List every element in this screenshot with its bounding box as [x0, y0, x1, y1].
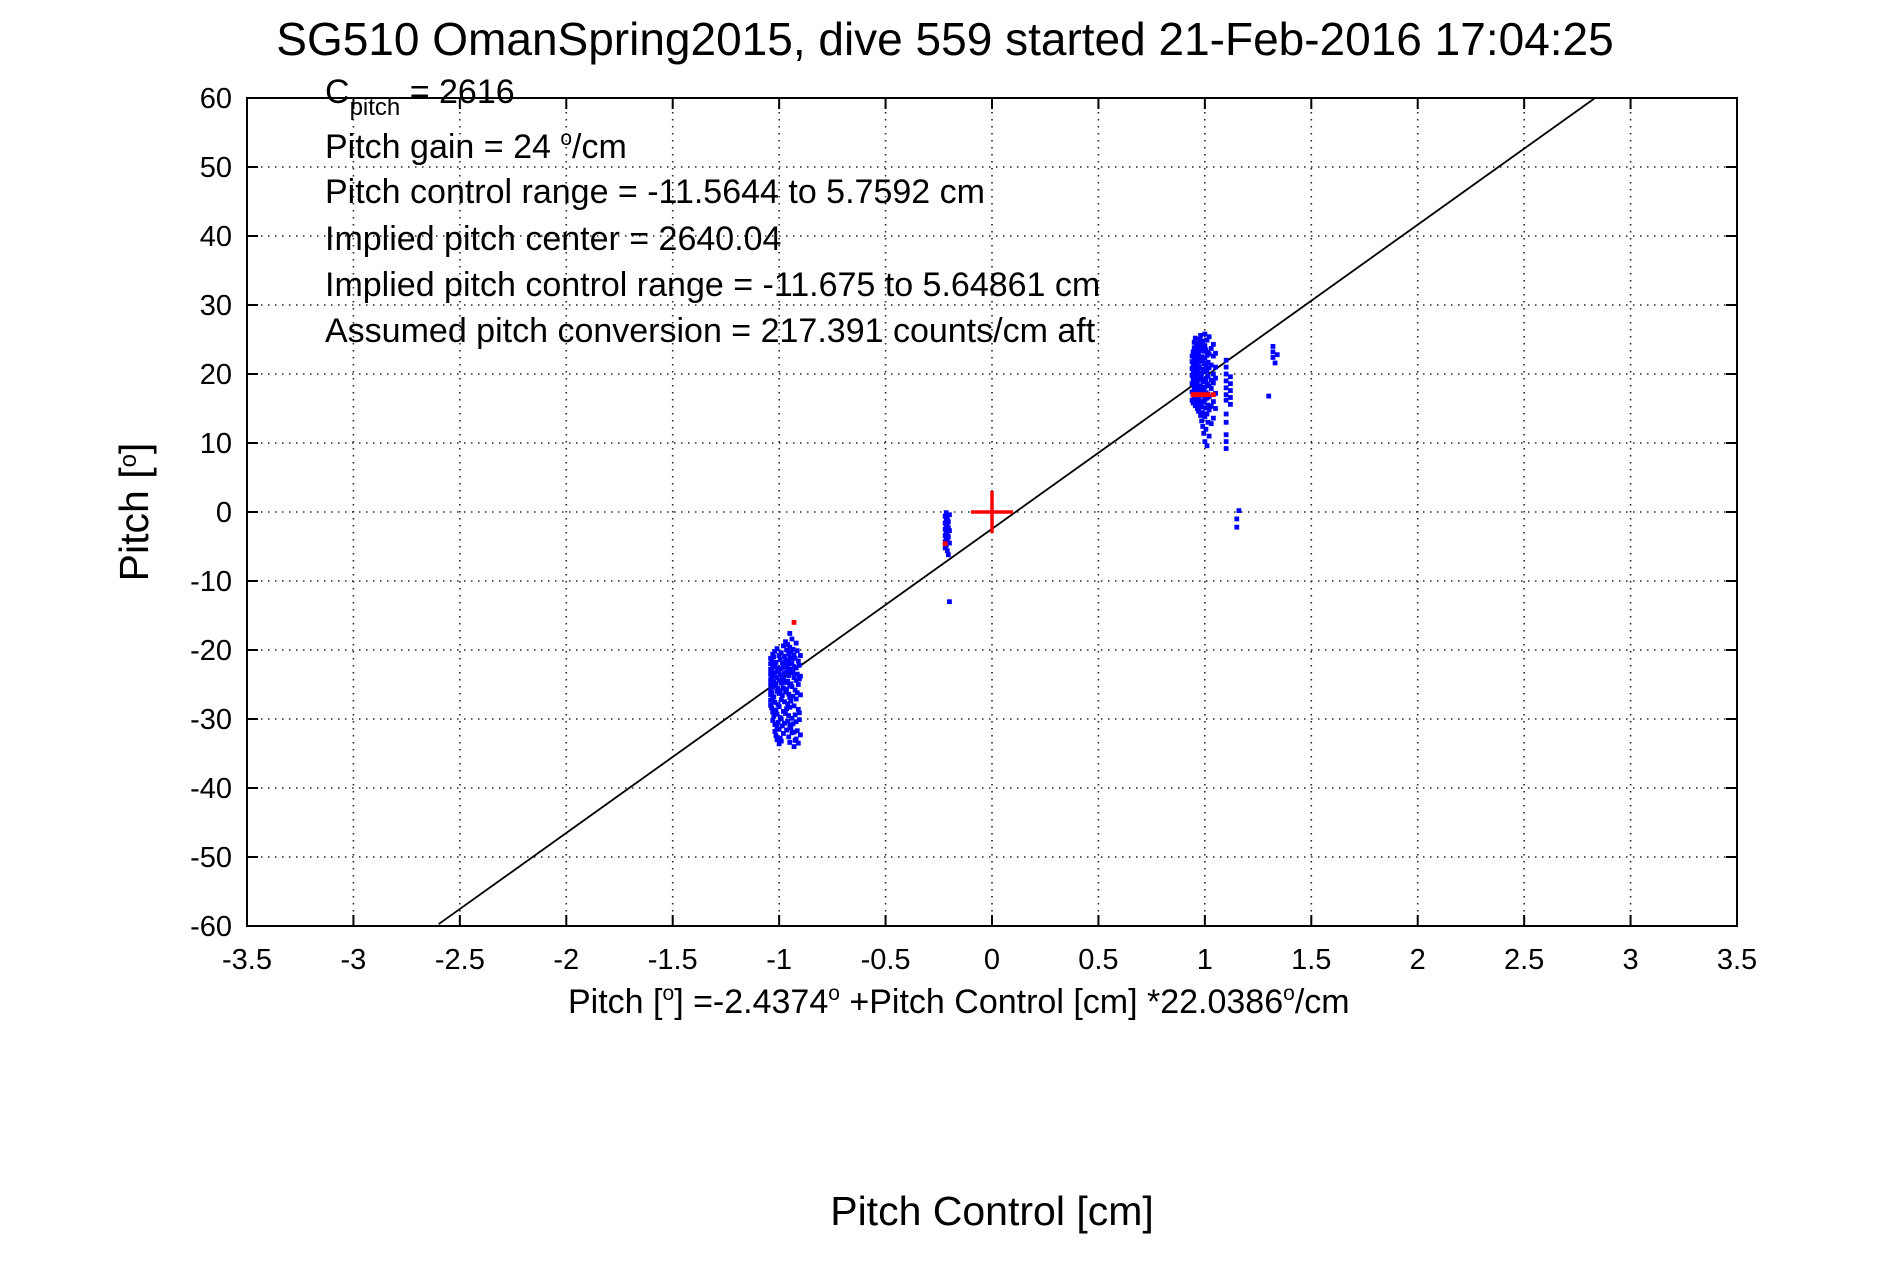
data-point [794, 737, 799, 742]
data-point [798, 692, 803, 697]
data-point [1224, 365, 1229, 370]
data-point [1224, 439, 1229, 444]
x-tick-label: -3 [341, 944, 367, 976]
y-tick-label: 10 [200, 428, 232, 460]
data-point [793, 712, 798, 717]
data-point [1213, 376, 1218, 381]
data-point [798, 674, 803, 679]
y-tick-label: 0 [216, 497, 232, 529]
data-point [947, 528, 952, 533]
data-point [1209, 363, 1214, 368]
data-point [769, 659, 774, 664]
data-point [947, 541, 952, 546]
data-point [1211, 392, 1216, 397]
matlab-figure-window: SG510 OmanSpring2015, dive 559 started 2… [0, 0, 1891, 1262]
data-point [774, 733, 779, 738]
x-tick-label: 2 [1410, 944, 1426, 976]
x-tick-label: -2.5 [435, 944, 485, 976]
data-point [1193, 336, 1198, 341]
data-point [1228, 395, 1233, 400]
data-point [1196, 409, 1201, 414]
data-point [796, 682, 801, 687]
data-point [1224, 358, 1229, 363]
data-point [1273, 361, 1278, 366]
x-tick-label: 0 [984, 944, 1000, 976]
equation-units: /cm [1295, 983, 1350, 1021]
data-point [1202, 332, 1207, 337]
y-tick-label: 40 [200, 221, 232, 253]
data-point [771, 655, 776, 660]
y-tick-label: -20 [190, 635, 232, 667]
degree-symbol-icon: o [560, 127, 572, 150]
data-point [788, 726, 793, 731]
data-point [1200, 410, 1205, 415]
annotation-line-control-range: Pitch control range = -11.5644 to 5.7592… [325, 173, 985, 211]
data-point [1211, 416, 1216, 421]
data-point [1224, 379, 1229, 384]
data-point [779, 681, 784, 686]
data-point [784, 687, 789, 692]
data-point [769, 706, 774, 711]
data-point [1211, 381, 1216, 386]
data-point [1199, 405, 1204, 410]
data-point [1209, 404, 1214, 409]
data-point [1204, 427, 1209, 432]
data-point [943, 541, 948, 546]
data-point [772, 729, 777, 734]
data-point [1213, 406, 1218, 411]
data-point [946, 534, 951, 539]
data-point [946, 519, 951, 524]
y-tick-label: -40 [190, 773, 232, 805]
y-tick-label: -10 [190, 566, 232, 598]
data-point [1224, 446, 1229, 451]
y-tick-label: 50 [200, 152, 232, 184]
data-point [786, 735, 791, 740]
data-point [798, 653, 803, 658]
data-point [1211, 372, 1216, 377]
degree-symbol-icon-1: o [663, 982, 675, 1005]
data-point [786, 673, 791, 678]
data-point [787, 631, 792, 636]
data-point [1224, 412, 1229, 417]
annotation-line-implied-center: Implied pitch center = 2640.04 [325, 220, 781, 258]
data-point [1198, 333, 1203, 338]
pitch-calibration-scatter-plot: SG510 OmanSpring2015, dive 559 started 2… [0, 0, 1891, 1262]
data-point [787, 705, 792, 710]
data-point [1213, 351, 1218, 356]
cpitch-subscript: pitch [350, 94, 401, 121]
x-tick-labels: -3.5-3-2.5-2-1.5-1-0.500.511.522.533.5 [222, 944, 1757, 976]
x-tick-label: 1 [1197, 944, 1213, 976]
x-tick-label: 2.5 [1504, 944, 1544, 976]
cpitch-value: = 2616 [400, 73, 514, 111]
equation-mid: ] =-2.4374 [674, 983, 828, 1021]
data-point [1202, 439, 1207, 444]
data-point [792, 744, 797, 749]
x-tick-label: -1.5 [648, 944, 698, 976]
data-point [779, 666, 784, 671]
data-point [790, 637, 795, 642]
x-tick-label: -2 [553, 944, 579, 976]
data-point [1207, 434, 1212, 439]
annotation-line-conversion: Assumed pitch conversion = 217.391 count… [325, 312, 1096, 350]
data-point [1228, 374, 1233, 379]
data-point [785, 719, 790, 724]
data-point [794, 697, 799, 702]
y-tick-label: -50 [190, 842, 232, 874]
data-point [1228, 381, 1233, 386]
data-point [774, 660, 779, 665]
data-point [1224, 385, 1229, 390]
data-point [1207, 352, 1212, 357]
degree-symbol-icon-3: o [1283, 982, 1295, 1005]
data-point [1275, 352, 1280, 357]
data-point [1202, 343, 1207, 348]
data-point [1234, 525, 1239, 530]
data-point [945, 548, 950, 553]
x-tick-label: -0.5 [861, 944, 911, 976]
data-point [1224, 420, 1229, 425]
data-point [1228, 388, 1233, 393]
data-point [1209, 346, 1214, 351]
data-point [1211, 342, 1216, 347]
data-point [769, 690, 774, 695]
data-point [795, 728, 800, 733]
data-point [797, 717, 802, 722]
data-point [777, 704, 782, 709]
x-tick-label: 3 [1623, 944, 1639, 976]
data-point [1205, 443, 1210, 448]
equation-lhs: Pitch [568, 983, 644, 1021]
data-point [798, 732, 803, 737]
data-point [1228, 402, 1233, 407]
data-point [1206, 374, 1211, 379]
data-point [779, 739, 784, 744]
data-point [1209, 421, 1214, 426]
data-point [1211, 399, 1216, 404]
data-point [795, 648, 800, 653]
data-point [771, 695, 776, 700]
y-tick-label: 60 [200, 83, 232, 115]
data-point [787, 740, 792, 745]
data-point [1271, 344, 1276, 349]
data-point [1199, 419, 1204, 424]
data-point [1213, 365, 1218, 370]
degree-symbol-icon-2: o [828, 982, 840, 1005]
data-point [796, 741, 801, 746]
data-point [792, 620, 797, 625]
data-point [796, 659, 801, 664]
data-point [1224, 398, 1229, 403]
x-axis-label: Pitch Control [cm] [830, 1188, 1154, 1234]
y-tick-label: 20 [200, 359, 232, 391]
pitch-gain-units: /cm [572, 128, 627, 166]
data-point [770, 718, 775, 723]
data-point [1209, 386, 1214, 391]
data-point [782, 654, 787, 659]
data-point [1201, 431, 1206, 436]
data-point [1271, 350, 1276, 355]
x-tick-label: -3.5 [222, 944, 272, 976]
data-point [791, 670, 796, 675]
data-point [1234, 517, 1239, 522]
data-point [1206, 392, 1211, 397]
data-point [1237, 508, 1242, 513]
data-point [788, 699, 793, 704]
x-tick-label: -1 [766, 944, 792, 976]
data-point [779, 717, 784, 722]
y-tick-label: -30 [190, 704, 232, 736]
data-point [781, 643, 786, 648]
data-point [784, 728, 789, 733]
annotation-line-implied-range: Implied pitch control range = -11.675 to… [325, 266, 1100, 304]
y-tick-label: 30 [200, 290, 232, 322]
pitch-gain-text: Pitch gain = 24 [325, 128, 560, 166]
cpitch-symbol: C [325, 73, 350, 111]
data-point [946, 552, 951, 557]
data-point [1200, 338, 1205, 343]
fit-equation-annotation: Pitch [o] =-2.4374o +Pitch Control [cm] … [568, 982, 1350, 1021]
data-point [1207, 334, 1212, 339]
x-tick-label: 0.5 [1078, 944, 1118, 976]
data-point [797, 663, 802, 668]
data-point [947, 599, 952, 604]
x-tick-label: 1.5 [1291, 944, 1331, 976]
data-point [947, 512, 952, 517]
annotation-line-pitch-gain: Pitch gain = 24 o/cm [325, 127, 627, 166]
equation-rhs: +Pitch Control [cm] *22.0386 [840, 983, 1283, 1021]
data-point [785, 659, 790, 664]
x-tick-label: 3.5 [1717, 944, 1757, 976]
data-point [1224, 392, 1229, 397]
chart-title: SG510 OmanSpring2015, dive 559 started 2… [276, 13, 1613, 65]
data-point [797, 710, 802, 715]
data-point [1195, 380, 1200, 385]
equation-unit-open: [ [644, 983, 663, 1021]
data-point [792, 703, 797, 708]
data-point [1192, 340, 1197, 345]
data-point [1271, 355, 1276, 360]
data-point [794, 641, 799, 646]
data-point [1224, 432, 1229, 437]
data-point [775, 646, 780, 651]
y-tick-label: -60 [190, 911, 232, 943]
data-point [791, 647, 796, 652]
data-point [1224, 372, 1229, 377]
data-point [1205, 412, 1210, 417]
data-point [1266, 394, 1271, 399]
data-point [1204, 378, 1209, 383]
